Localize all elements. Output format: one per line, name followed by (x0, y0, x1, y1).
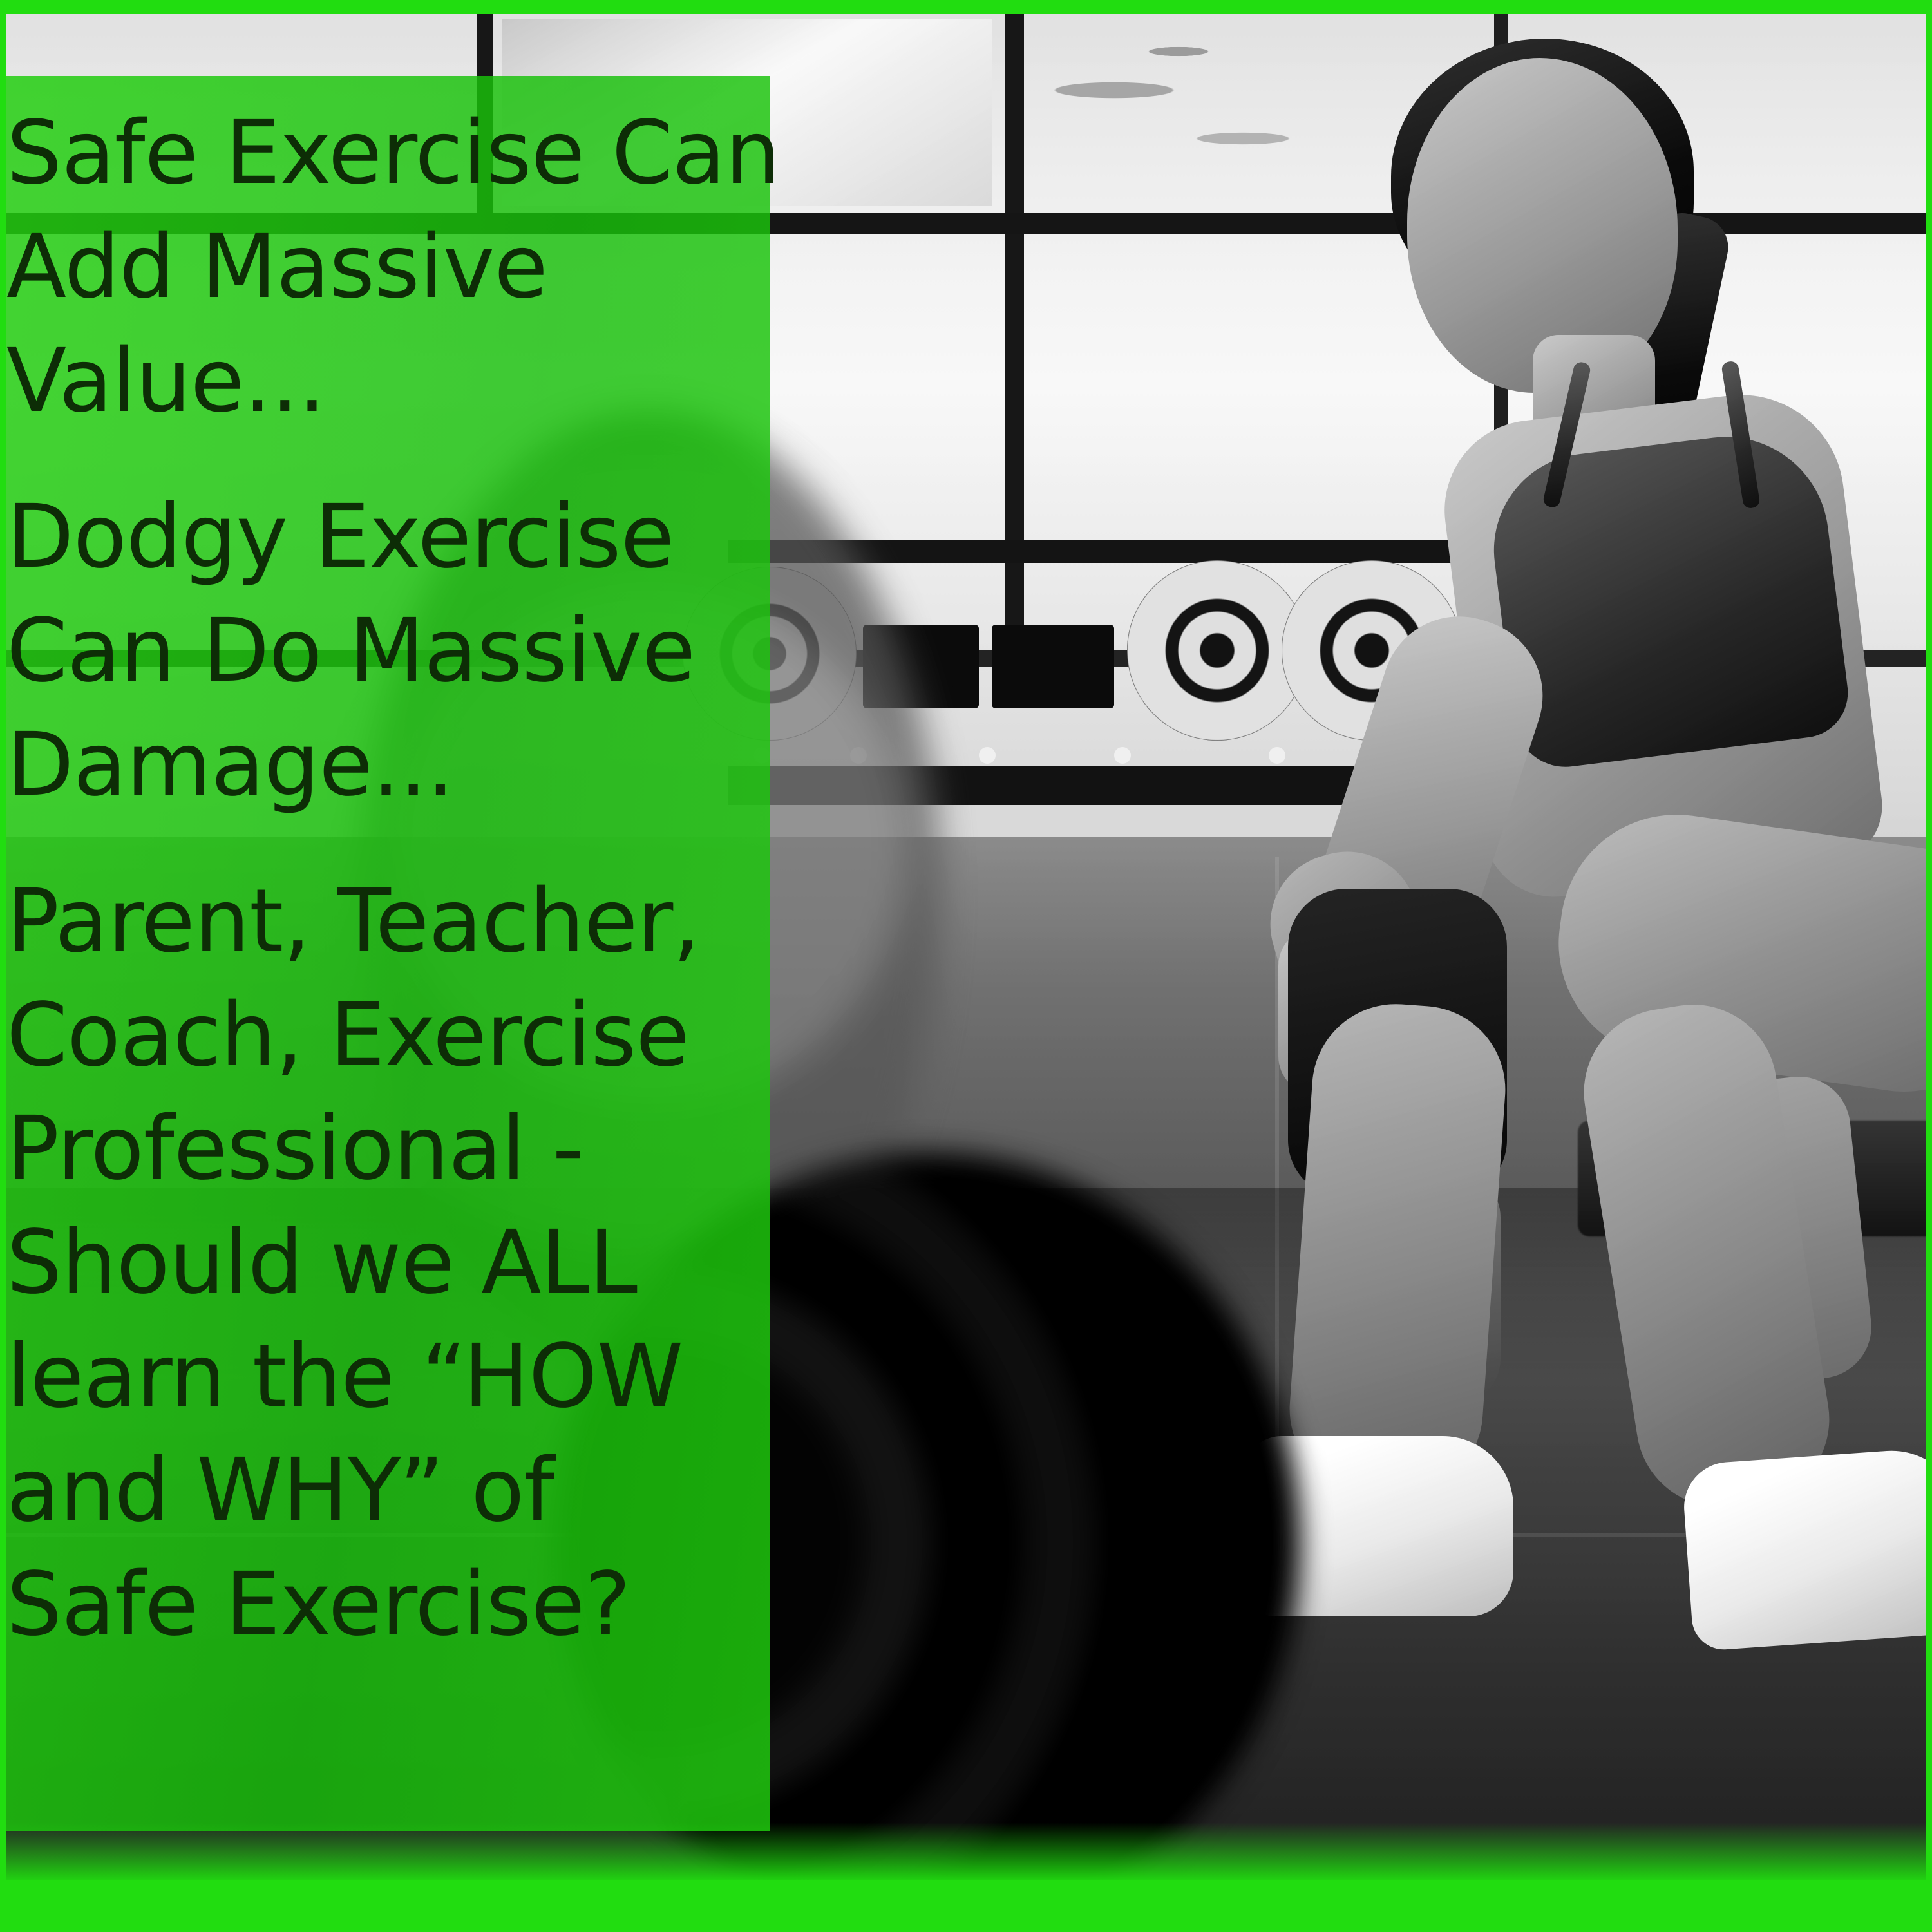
headline-paragraph-value: Safe Exercise Can Add Massive Value... (6, 97, 766, 438)
bottom-frame-fade (0, 1823, 1932, 1880)
headline-line: Should we ALL (6, 1206, 766, 1320)
headline-copy-block: Safe Exercise Can Add Massive Value... D… (6, 97, 766, 1662)
tree-through-window (1018, 13, 1340, 206)
headline-line: Add Massive (6, 211, 766, 325)
headline-line: Safe Exercise? (6, 1548, 766, 1662)
headline-line: Parent, Teacher, (6, 865, 766, 979)
frame-border-left (0, 0, 6, 1932)
frame-border-right (1926, 0, 1932, 1932)
poster-canvas: Safe Exercise Can Add Massive Value... D… (0, 0, 1932, 1932)
woman-left-calf (1284, 998, 1511, 1500)
frame-border-top (0, 0, 1932, 14)
headline-line: Value... (6, 325, 766, 439)
headline-line: and WHY” of (6, 1434, 766, 1548)
headline-paragraph-damage: Dodgy Exercise Can Do Massive Damage... (6, 480, 766, 822)
headline-line: Can Do Massive (6, 594, 766, 708)
headline-line: Coach, Exercise (6, 979, 766, 1093)
headline-line: Professional - (6, 1092, 766, 1206)
headline-line: Safe Exercise Can (6, 97, 766, 211)
headline-line: Dodgy Exercise (6, 480, 766, 594)
headline-line: Damage... (6, 708, 766, 822)
frame-border-bottom (0, 1880, 1932, 1932)
headline-line: learn the “HOW (6, 1320, 766, 1434)
woman-right-sneaker (1681, 1446, 1932, 1651)
headline-paragraph-question: Parent, Teacher, Coach, Exercise Profess… (6, 865, 766, 1662)
